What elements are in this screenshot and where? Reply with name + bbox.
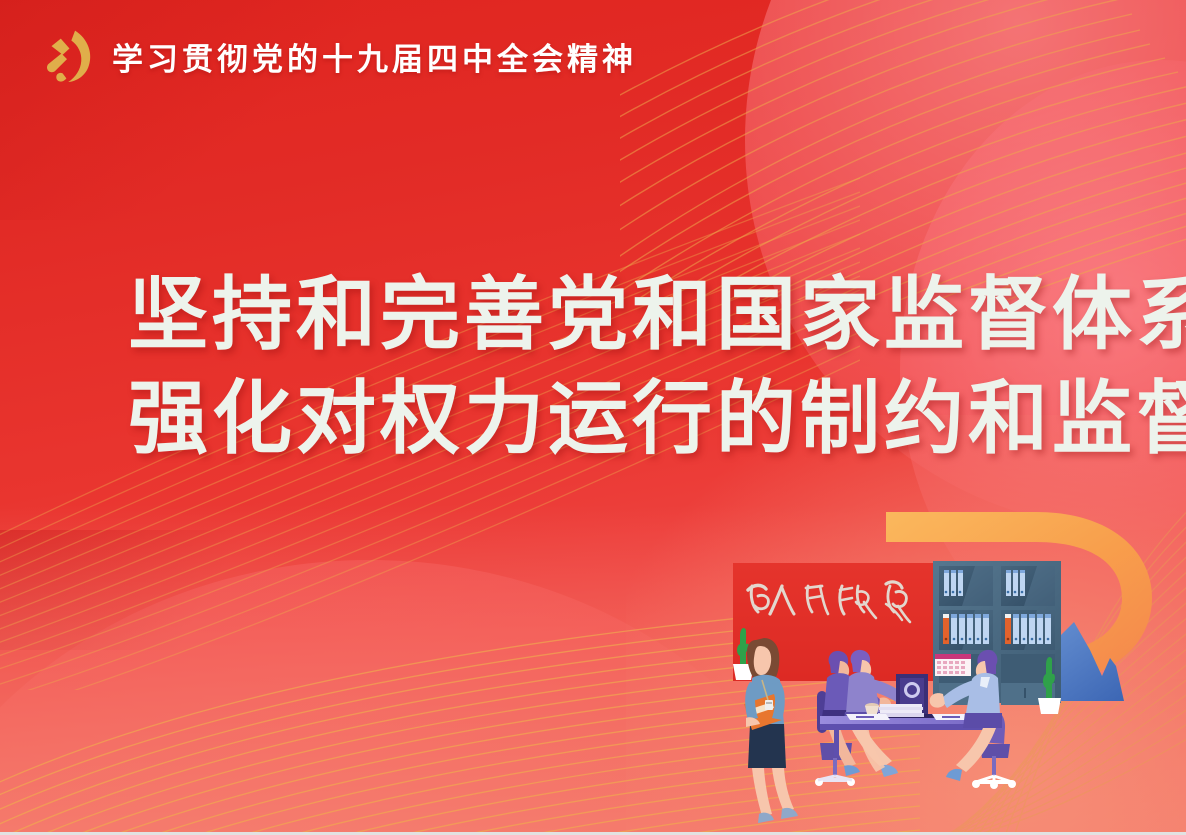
hammer-and-sickle-icon bbox=[36, 25, 98, 87]
poster-canvas: 学习贯彻党的十九届四中全会精神 坚持和完善党和国家监督体系 强化对权力运行的制约… bbox=[0, 0, 1186, 835]
wall-calendar bbox=[935, 654, 971, 676]
office-meeting-illustration bbox=[700, 528, 1100, 835]
page-title-banner: 学习贯彻党的十九届四中全会精神 bbox=[112, 34, 637, 79]
binder-group-top-right bbox=[1006, 570, 1025, 596]
binder-group-top-left bbox=[944, 570, 963, 596]
main-headline: 坚持和完善党和国家监督体系 强化对权力运行的制约和监督 bbox=[128, 262, 1028, 470]
coffee-cup bbox=[865, 703, 879, 714]
poster-header: 学习贯彻党的十九届四中全会精神 bbox=[0, 0, 1186, 112]
headline-line-1: 坚持和完善党和国家监督体系 bbox=[128, 262, 1028, 366]
dark-wedge-bottom-left bbox=[0, 530, 240, 650]
headline-line-2: 强化对权力运行的制约和监督 bbox=[128, 366, 1028, 470]
